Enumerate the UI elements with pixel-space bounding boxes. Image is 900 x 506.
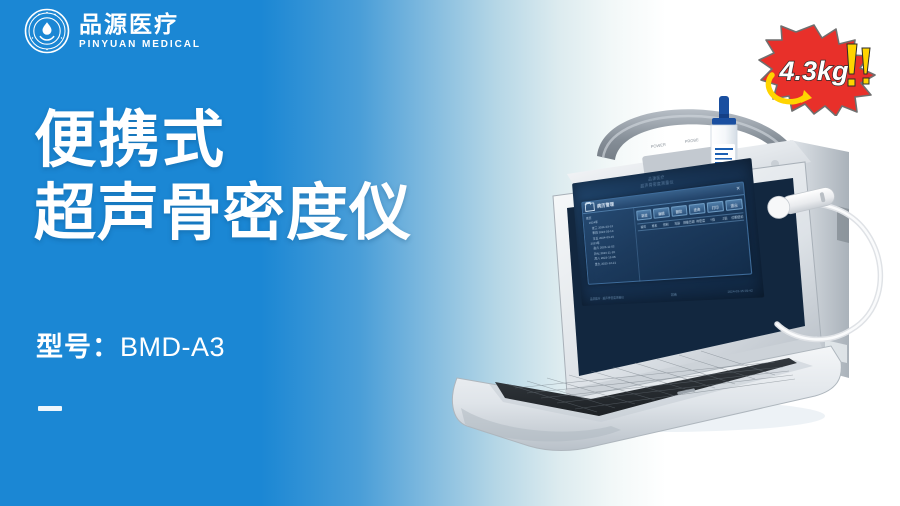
model-value: BMD-A3 <box>120 332 225 362</box>
table-column-header: T值 <box>706 217 719 222</box>
brand-wordmark: 品源医疗 PINYUAN MEDICAL <box>79 13 201 50</box>
toolbar-button[interactable]: 编辑 <box>653 207 669 219</box>
table-column-header: 骨密度 <box>695 218 707 223</box>
status-right: 2024-03-15 09:42 <box>727 288 753 294</box>
records-tree[interactable]: 病历 2024年 张三 2024-03-12 李四 2024-03-14 王五 … <box>583 208 641 285</box>
records-panel: 新增 编辑 删除 查询 打印 退出 编号 姓名 性别 年龄 测量日期 骨密度 <box>634 195 751 281</box>
toolbar-button[interactable]: 退出 <box>725 199 743 211</box>
svg-text:PROBE: PROBE <box>684 137 699 144</box>
screen-statusbar: 品源医疗 · 超声骨密度测量仪 就绪 2024-03-15 09:42 <box>590 288 753 301</box>
svg-text:POWER: POWER <box>650 142 666 149</box>
table-column-header: 测量日期 <box>683 219 695 224</box>
brand-name-en: PINYUAN MEDICAL <box>79 40 201 50</box>
table-column-header: 编号 <box>638 224 649 229</box>
table-column-header: Z值 <box>719 216 732 221</box>
brand-logo: 品源医疗 PINYUAN MEDICAL <box>24 8 201 54</box>
window-title: 病历管理 <box>597 201 615 209</box>
headline-line-2: 超声骨密度仪 <box>34 177 412 250</box>
brand-name-cn: 品源医疗 <box>79 13 201 36</box>
records-window: 病历管理 × 病历 2024年 张三 2024-03-12 李四 2024-03… <box>581 181 752 285</box>
close-icon[interactable]: × <box>736 186 740 193</box>
weight-value: 4.3kg <box>778 56 849 86</box>
headline-line-1: 便携式 <box>34 104 412 177</box>
product-banner: 品源医疗 PINYUAN MEDICAL 便携式 超声骨密度仪 型号：BMD-A… <box>0 0 900 506</box>
table-column-header: 性别 <box>660 222 672 227</box>
status-left: 品源医疗 · 超声骨密度测量仪 <box>590 295 624 301</box>
toolbar-button[interactable]: 打印 <box>706 201 724 213</box>
toolbar-button[interactable]: 查询 <box>688 203 705 215</box>
table-column-header: 年龄 <box>671 221 683 226</box>
table-column-header: 姓名 <box>649 223 661 228</box>
accent-dash <box>38 406 62 411</box>
model-label: 型号： <box>36 332 120 362</box>
status-center: 就绪 <box>671 292 677 296</box>
toolbar-button[interactable]: 新增 <box>637 209 653 221</box>
toolbar-button[interactable]: 删除 <box>671 205 688 217</box>
model-number: 型号：BMD-A3 <box>36 325 225 364</box>
page-title: 便携式 超声骨密度仪 <box>34 104 412 250</box>
table-column-header: 诊断结论 <box>731 214 744 219</box>
company-seal-icon <box>24 8 70 54</box>
weight-badge: 4.3kg <box>752 22 882 116</box>
folder-icon <box>585 202 595 212</box>
device-screen-content: 品源医疗 超声骨密度测量仪 病历管理 × 病历 2024年 张三 2024-03… <box>572 158 764 306</box>
